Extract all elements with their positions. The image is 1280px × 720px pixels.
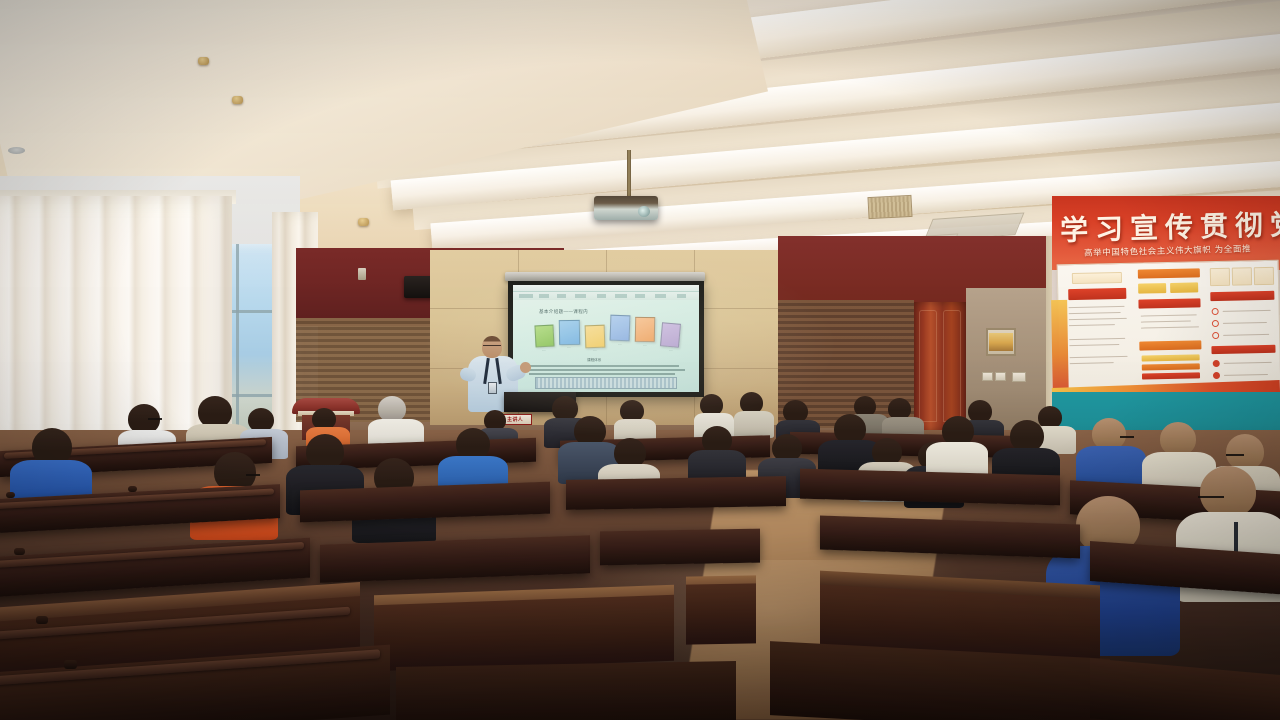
- poster-bullet: [1212, 332, 1219, 339]
- poster-chip: [1170, 282, 1198, 293]
- poster-title-bar: [1138, 268, 1200, 278]
- poster-text-line: [1141, 326, 1199, 329]
- slide-app-toolbar: [513, 292, 699, 300]
- bench-desk: [600, 529, 760, 566]
- poster-text-line: [1141, 321, 1191, 323]
- poster-bullet: [1213, 372, 1220, 379]
- bench-knob: [64, 660, 77, 669]
- downlight-icon: [8, 147, 25, 154]
- conference-hall-photo: 学习宣传贯彻党 高举中国特色社会主义伟大旗帜 为全面推: [0, 0, 1280, 720]
- poster-text-line: [1223, 322, 1267, 324]
- bench-knob: [14, 548, 25, 555]
- bench-desk: [396, 661, 736, 720]
- wall-air-vent: [867, 195, 912, 219]
- poster-title-bar: [1211, 345, 1275, 354]
- slide-card: [660, 322, 681, 348]
- poster-chip: [1138, 283, 1166, 294]
- bench-knob: [36, 616, 48, 624]
- curtain-left[interactable]: [0, 196, 232, 446]
- door-panel: [943, 310, 961, 422]
- slide-title: 基本介绍题——课程内: [539, 309, 588, 315]
- poster-text-line: [1070, 362, 1114, 364]
- poster-title-bar: [1138, 298, 1200, 308]
- slide-card: [559, 320, 580, 345]
- sprinkler-icon: [358, 218, 369, 226]
- poster-text-line: [1069, 324, 1115, 326]
- light-switch[interactable]: [1012, 372, 1026, 382]
- bench-knob: [128, 486, 137, 492]
- poster-text-line: [1069, 318, 1127, 321]
- poster-heading: [1072, 272, 1122, 284]
- slide-card-label: …: [583, 348, 607, 352]
- poster-panel: [1057, 260, 1280, 397]
- poster-text-line: [1069, 344, 1119, 346]
- poster-text-line: [1141, 314, 1197, 317]
- poster-icon-tile: [1254, 267, 1274, 285]
- poster-text-line: [1070, 356, 1128, 359]
- door[interactable]: [914, 302, 966, 432]
- presenter-hand: [520, 362, 531, 373]
- projector-lens-icon: [638, 206, 650, 217]
- presenter-badge: [488, 382, 497, 394]
- slide-card-label: …: [557, 345, 581, 349]
- projector-mount-pole: [627, 150, 631, 198]
- bench-desk: [374, 595, 674, 671]
- poster-bullet: [1212, 320, 1219, 327]
- sprinkler-icon: [232, 96, 243, 104]
- slide-card: [610, 315, 631, 342]
- slide-card: [585, 325, 606, 349]
- poster-side-ribbon: [1051, 300, 1069, 400]
- slide-card: [534, 325, 554, 348]
- slide-text-line: [529, 369, 685, 371]
- slide-footer-label: 课程体系: [587, 358, 601, 363]
- slide-card-label: …: [532, 348, 556, 352]
- light-switch[interactable]: [995, 372, 1006, 381]
- poster-text-line: [1224, 374, 1268, 376]
- window-mullion: [236, 244, 239, 444]
- poster-bullet: [1213, 360, 1220, 367]
- exit-sign-icon: [358, 268, 366, 280]
- poster-title-bar: [1210, 291, 1274, 301]
- bench-knob: [6, 492, 15, 498]
- poster-chip: [1142, 363, 1200, 370]
- slide-table: [535, 377, 677, 389]
- poster-icon-tile: [1210, 268, 1230, 286]
- slide-app-ribbon: [513, 285, 699, 292]
- poster-chip: [1142, 354, 1200, 361]
- poster-title-bar: [1068, 288, 1126, 300]
- poster-icon-tile: [1232, 267, 1252, 285]
- slide-card-label: …: [633, 343, 657, 347]
- slide-card-label: …: [659, 348, 683, 352]
- poster-title-bar: [1139, 340, 1201, 350]
- slide-card: [635, 317, 655, 342]
- poster-bullet: [1212, 308, 1219, 315]
- projection-screen: 基本介绍题——课程内 … … … … … … 课程体系: [513, 285, 699, 392]
- sprinkler-icon: [198, 57, 209, 65]
- poster-text-line: [1223, 310, 1271, 312]
- door-panel: [919, 310, 937, 422]
- projection-screen-case: [505, 272, 705, 281]
- bench-desk: [686, 583, 756, 644]
- poster-text-line: [1224, 362, 1272, 364]
- poster-text-line: [1069, 338, 1125, 341]
- poster-chip: [1142, 372, 1200, 379]
- bench-desk: [566, 476, 786, 510]
- poster-text-line: [1223, 334, 1269, 336]
- poster-text-line: [1069, 306, 1125, 309]
- slide-text-line: [529, 365, 679, 367]
- slide-text-line: [529, 373, 675, 375]
- slide-card-label: …: [608, 342, 632, 346]
- poster-text-line: [1069, 312, 1121, 314]
- picture-artwork: [989, 333, 1013, 351]
- glasses-icon: [483, 345, 501, 348]
- light-switch[interactable]: [982, 372, 993, 381]
